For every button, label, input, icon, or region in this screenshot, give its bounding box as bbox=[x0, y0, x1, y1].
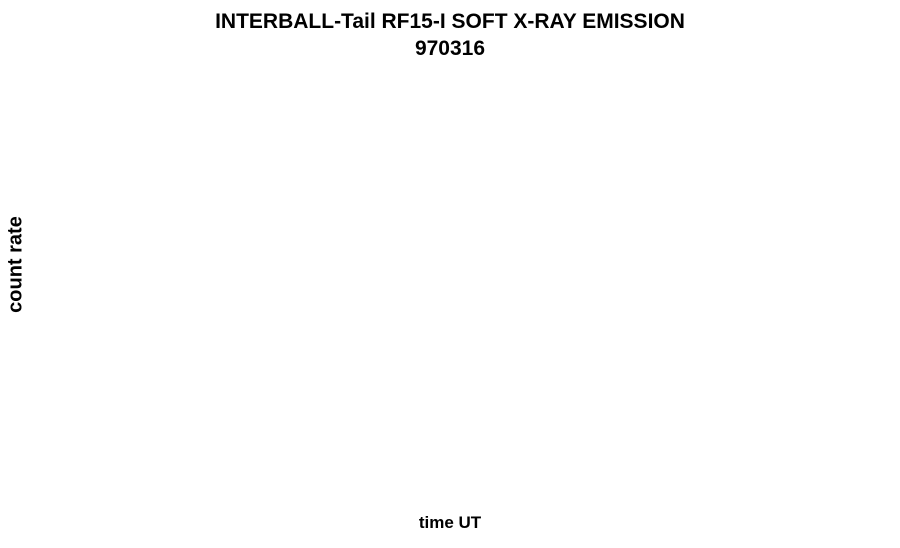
x-axis-label: time UT bbox=[0, 513, 900, 533]
y-axis-label: count rate bbox=[5, 185, 28, 345]
title-line-2: 970316 bbox=[0, 35, 900, 63]
plot-panels bbox=[80, 79, 862, 487]
title-line-1: INTERBALL-Tail RF15-I SOFT X-RAY EMISSIO… bbox=[0, 8, 900, 35]
figure-root: INTERBALL-Tail RF15-I SOFT X-RAY EMISSIO… bbox=[0, 0, 900, 548]
chart-title: INTERBALL-Tail RF15-I SOFT X-RAY EMISSIO… bbox=[0, 8, 900, 63]
